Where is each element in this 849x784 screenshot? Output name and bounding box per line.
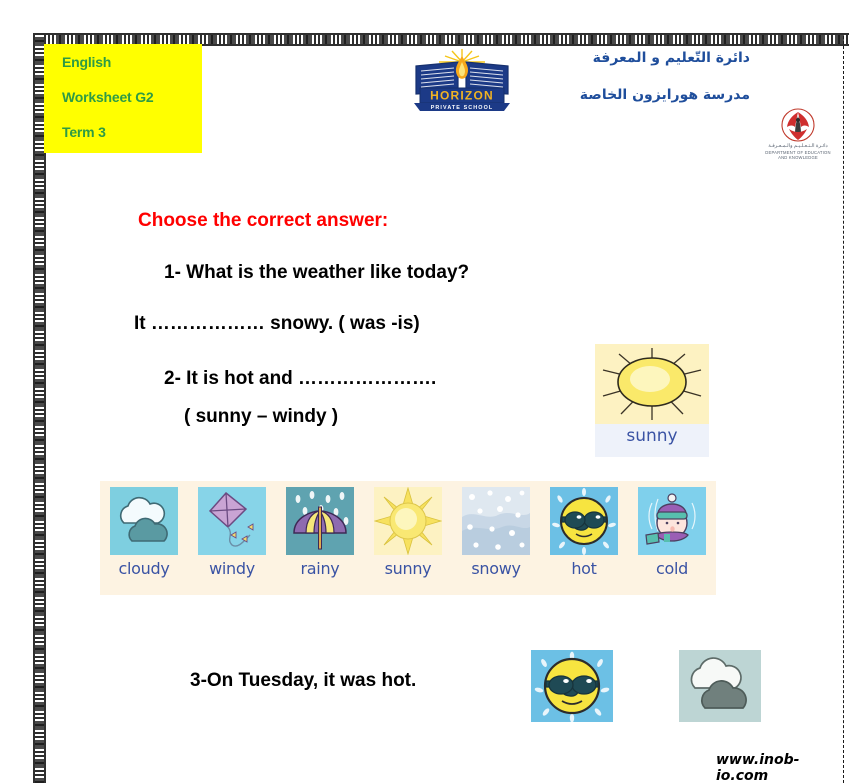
- weather-label-cold: cold: [635, 559, 709, 578]
- adek-falcon-emblem-icon: [777, 108, 819, 144]
- question-2-options: ( sunny – windy ): [184, 406, 338, 428]
- weather-item-hot[interactable]: hot: [547, 487, 621, 578]
- weather-label-snowy: snowy: [459, 559, 533, 578]
- weather-label-hot: hot: [547, 559, 621, 578]
- weather-label-cloudy: cloudy: [107, 559, 181, 578]
- sunny-sun-icon: [595, 344, 709, 424]
- header-arabic-school: مدرسة هورايزون الخاصة: [560, 87, 750, 103]
- horizon-school-logo: HORIZON PRIVATE SCHOOL: [408, 48, 516, 112]
- windy-kite-icon: [198, 487, 266, 555]
- worksheet-info-box: English Worksheet G2 Term 3: [44, 44, 202, 153]
- weather-item-snowy[interactable]: snowy: [459, 487, 533, 578]
- adek-caption-arabic: دائـرة الـتـعـلـيـم والـمـعـرفـة: [762, 144, 834, 150]
- header-arabic-authority: دائرة التّعليم و المعرفة: [560, 50, 750, 66]
- answer-option-hot[interactable]: [531, 650, 613, 722]
- weather-label-rainy: rainy: [283, 559, 357, 578]
- adek-caption-line2: AND KNOWLEDGE: [762, 155, 834, 160]
- rainy-umbrella-icon: [286, 487, 354, 555]
- question-1-text: 1- What is the weather like today?: [164, 262, 469, 284]
- cold-child-scarf-icon: [638, 487, 706, 555]
- sunny-flashcard: sunny: [595, 344, 709, 457]
- snowy-snowflakes-icon: [462, 487, 530, 555]
- weather-item-windy[interactable]: windy: [195, 487, 269, 578]
- info-term: Term 3: [62, 124, 202, 140]
- hot-sun-sunglasses-icon: [550, 487, 618, 555]
- adek-logo: دائـرة الـتـعـلـيـم والـمـعـرفـة DEPARTM…: [762, 108, 834, 170]
- weather-item-cold[interactable]: cold: [635, 487, 709, 578]
- horizon-logo-title: HORIZON: [430, 89, 494, 103]
- weather-item-sunny[interactable]: sunny: [371, 487, 445, 578]
- weather-label-sunny: sunny: [371, 559, 445, 578]
- question-1-blank[interactable]: It ……………… snowy. ( was -is): [134, 313, 420, 335]
- horizon-logo-subtitle: PRIVATE SCHOOL: [431, 105, 494, 111]
- clouds-icon: [679, 650, 761, 722]
- page-border-right: [843, 36, 844, 783]
- info-worksheet: Worksheet G2: [62, 89, 202, 105]
- worksheet-prompt: Choose the correct answer:: [138, 210, 388, 232]
- sun-sunglasses-icon: [531, 650, 613, 722]
- question-3-text: 3-On Tuesday, it was hot.: [190, 670, 416, 692]
- question-2-text[interactable]: 2- It is hot and ………………….: [164, 368, 436, 390]
- adek-caption-line1: DEPARTMENT OF EDUCATION: [762, 150, 834, 155]
- weather-item-cloudy[interactable]: cloudy: [107, 487, 181, 578]
- weather-item-rainy[interactable]: rainy: [283, 487, 357, 578]
- sunny-flashcard-label: sunny: [595, 426, 709, 446]
- weather-label-windy: windy: [195, 559, 269, 578]
- answer-option-cloudy[interactable]: [679, 650, 761, 722]
- site-watermark: www.inob-io.com: [716, 752, 849, 784]
- cloudy-icon: [110, 487, 178, 555]
- weather-vocabulary-strip: cloudy windy rain: [100, 481, 716, 595]
- horizon-logo-graphic: HORIZON PRIVATE SCHOOL: [408, 48, 516, 112]
- info-subject: English: [62, 54, 202, 70]
- sunny-sun-icon: [374, 487, 442, 555]
